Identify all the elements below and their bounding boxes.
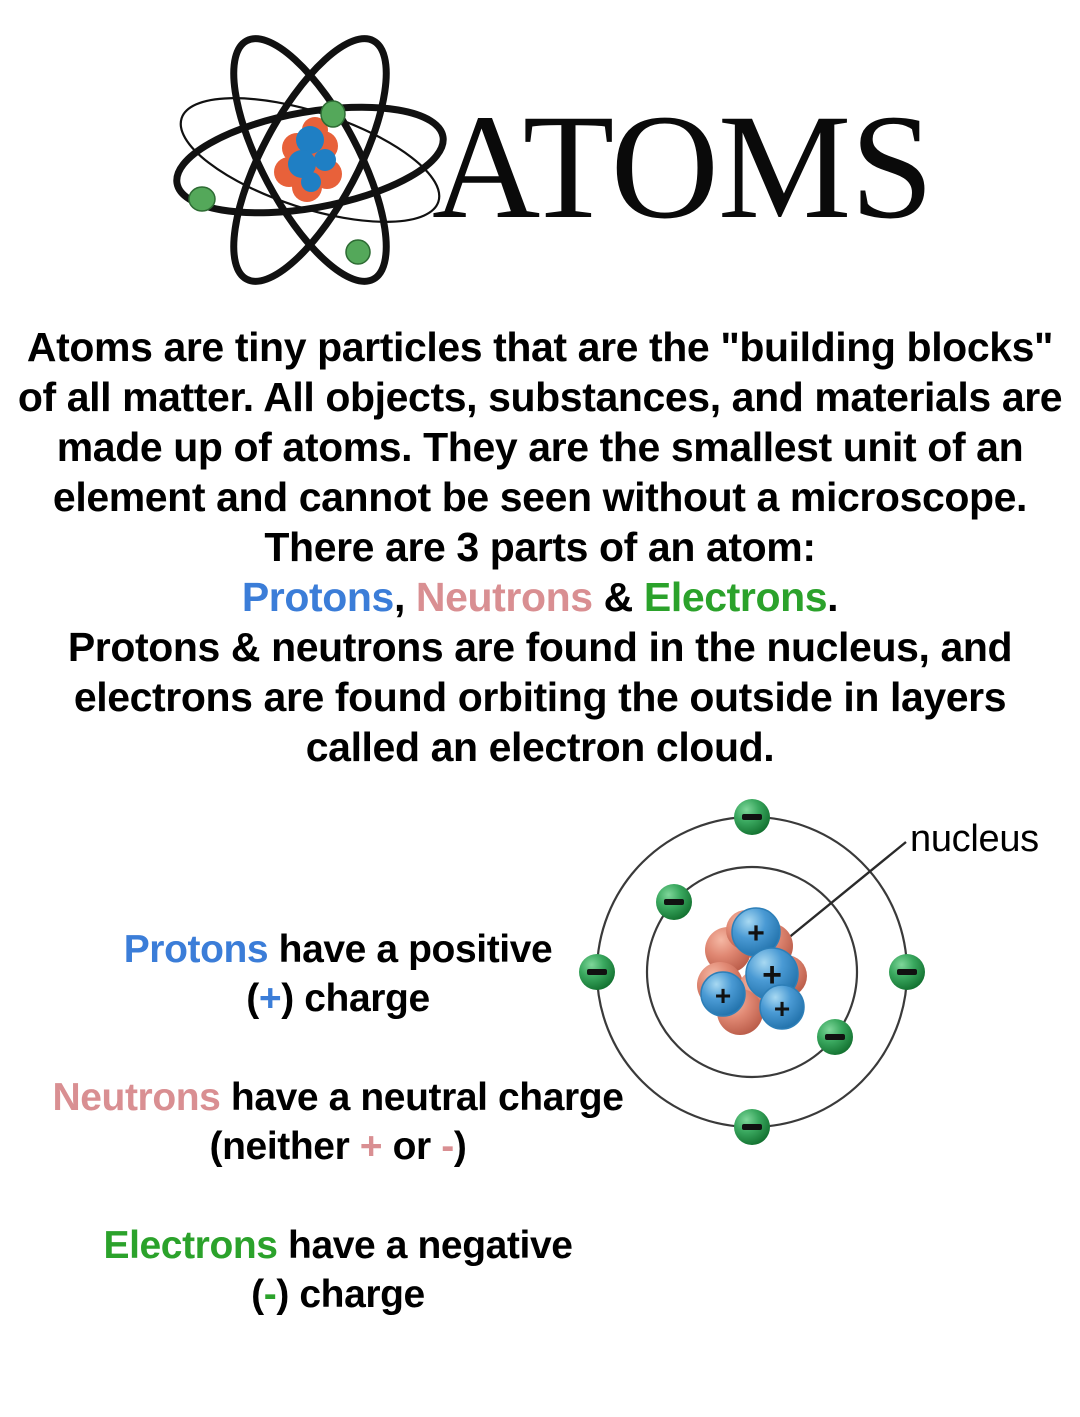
svg-text:+: + bbox=[774, 993, 790, 1024]
charge-symbol-plus: + bbox=[360, 1125, 382, 1168]
intro-closing-line-1: Protons & neutrons are found in the nucl… bbox=[0, 622, 1080, 672]
nucleus-cluster: + + + + bbox=[697, 908, 807, 1035]
charge-symbol-plus: + bbox=[259, 977, 281, 1020]
paren-close: ) bbox=[454, 1125, 467, 1168]
svg-text:+: + bbox=[747, 917, 765, 950]
intro-line-4: element and cannot be seen without a mic… bbox=[0, 472, 1080, 522]
keyword-neutrons: Neutrons bbox=[52, 1076, 220, 1119]
parts-separator-2: & bbox=[593, 574, 644, 620]
paren-close-charge: ) charge bbox=[281, 977, 430, 1020]
statement-electrons-rest: have a negative bbox=[278, 1224, 573, 1267]
statement-electrons-line-2: (-) charge bbox=[18, 1270, 658, 1319]
electron-outer-right bbox=[889, 954, 925, 990]
keyword-electrons: Electrons bbox=[103, 1224, 277, 1267]
neither-or: or bbox=[382, 1125, 441, 1168]
paren-close-charge: ) charge bbox=[276, 1273, 425, 1316]
charge-symbol-minus: - bbox=[264, 1273, 277, 1316]
proton-sphere: + bbox=[760, 985, 804, 1029]
intro-closing-line-3: called an electron cloud. bbox=[0, 722, 1080, 772]
page-title: ATOMS bbox=[432, 92, 933, 242]
proton-sphere: + bbox=[701, 972, 745, 1016]
electron-outer-left bbox=[579, 954, 615, 990]
electron-outer-bottom bbox=[734, 1109, 770, 1145]
keyword-protons: Protons bbox=[242, 574, 394, 620]
paren-open: ( bbox=[246, 977, 259, 1020]
intro-line-5: There are 3 parts of an atom: bbox=[0, 522, 1080, 572]
paren-open-neither: (neither bbox=[210, 1125, 360, 1168]
logo-nucleus-icon bbox=[274, 117, 342, 202]
keyword-electrons: Electrons bbox=[644, 574, 827, 620]
nucleus-label: nucleus bbox=[910, 818, 1039, 860]
charge-symbol-minus: - bbox=[441, 1125, 454, 1168]
electron-inner-upper-left bbox=[656, 884, 692, 920]
parts-separator-1: , bbox=[394, 574, 416, 620]
statement-electrons: Electrons have a negative (-) charge bbox=[18, 1221, 658, 1319]
intro-line-1: Atoms are tiny particles that are the "b… bbox=[0, 322, 1080, 372]
paren-open: ( bbox=[251, 1273, 264, 1316]
header: ATOMS bbox=[0, 0, 1080, 310]
atom-logo-icon bbox=[165, 22, 455, 297]
keyword-protons: Protons bbox=[124, 928, 269, 971]
intro-closing-line-2: electrons are found orbiting the outside… bbox=[0, 672, 1080, 722]
statement-electrons-line-1: Electrons have a negative bbox=[18, 1221, 658, 1270]
parts-period: . bbox=[827, 574, 838, 620]
intro-line-2: of all matter. All objects, substances, … bbox=[0, 372, 1080, 422]
intro-line-3: made up of atoms. They are the smallest … bbox=[0, 422, 1080, 472]
intro-parts-line: Protons, Neutrons & Electrons. bbox=[0, 572, 1080, 622]
electron-outer-top bbox=[734, 799, 770, 835]
svg-text:+: + bbox=[715, 980, 731, 1011]
electron-inner-lower-right bbox=[817, 1019, 853, 1055]
statement-protons-rest: have a positive bbox=[268, 928, 552, 971]
keyword-neutrons: Neutrons bbox=[416, 574, 593, 620]
intro-paragraph: Atoms are tiny particles that are the "b… bbox=[0, 322, 1080, 772]
